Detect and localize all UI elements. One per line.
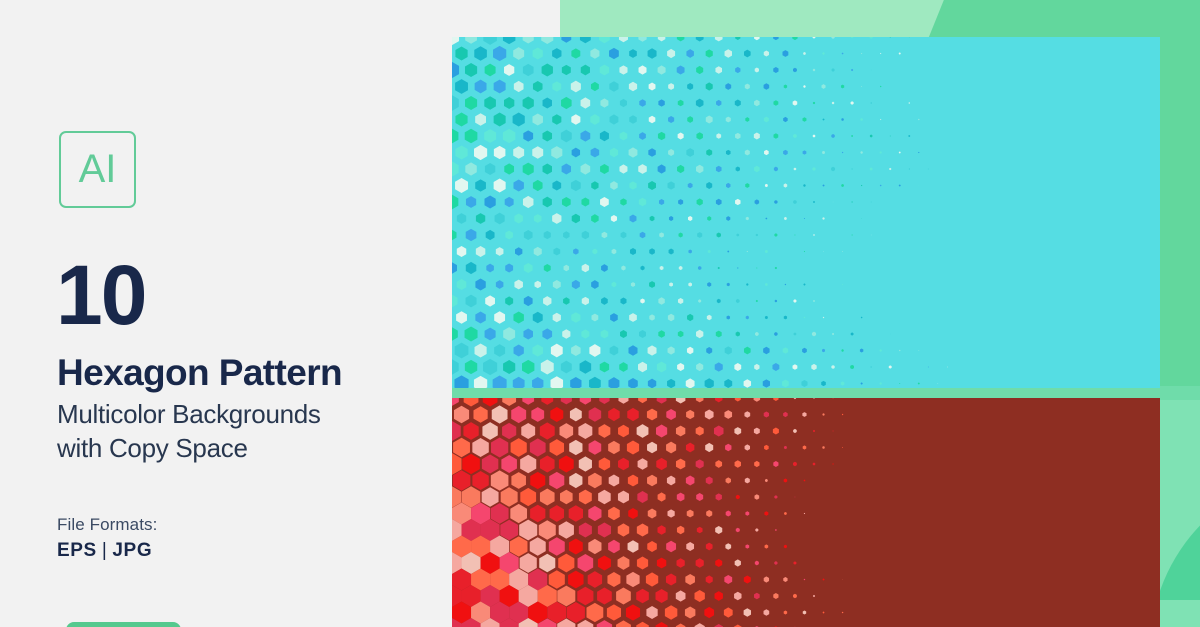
- page-subtitle: Multicolor Backgroundswith Copy Space: [57, 398, 447, 466]
- cta-button[interactable]: [66, 622, 181, 627]
- file-formats-value: EPS|JPG: [57, 540, 152, 562]
- cyan-hexagon-halftone-preview[interactable]: [452, 37, 1160, 388]
- format-eps: EPS: [57, 540, 97, 561]
- ai-file-badge-icon: AI: [59, 131, 136, 208]
- item-count: 10: [56, 258, 145, 334]
- ai-badge-label: AI: [79, 149, 117, 189]
- cyan-hexagon-svg: [452, 37, 1160, 388]
- red-hexagon-svg: [452, 398, 1160, 627]
- poster-canvas: AI 10 Hexagon Pattern Multicolor Backgro…: [0, 0, 1200, 627]
- format-separator: |: [97, 540, 113, 561]
- page-title: Hexagon Pattern: [57, 354, 342, 393]
- left-info-column: AI 10 Hexagon Pattern Multicolor Backgro…: [0, 0, 452, 627]
- file-formats-label: File Formats:: [57, 515, 157, 535]
- red-hexagon-halftone-preview[interactable]: [452, 398, 1160, 627]
- format-jpg: JPG: [112, 540, 152, 561]
